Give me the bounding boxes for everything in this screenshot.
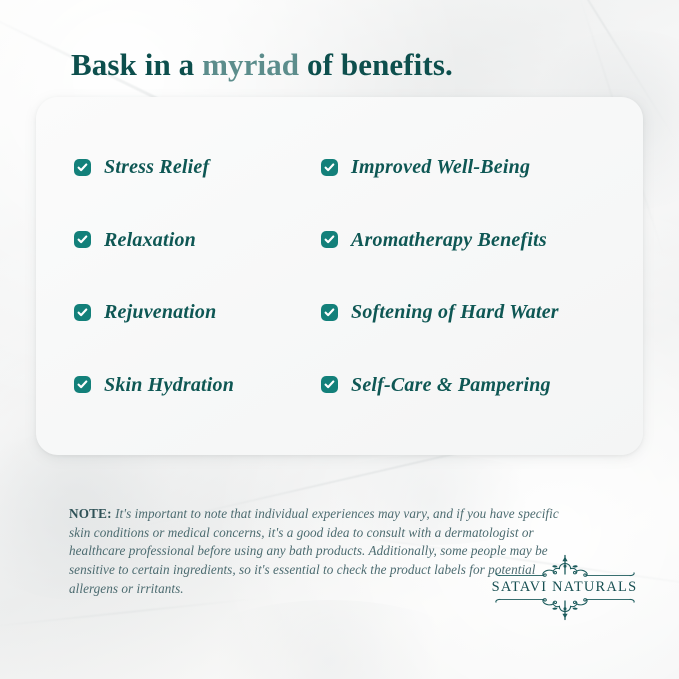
benefit-label: Stress Relief (104, 157, 209, 177)
product-infographic-page: Bask in a myriad of benefits. Stress Rel… (0, 0, 679, 679)
benefit-label: Improved Well-Being (351, 157, 530, 177)
check-circle-icon (74, 159, 91, 176)
benefit-label: Relaxation (104, 230, 196, 250)
check-circle-icon (321, 159, 338, 176)
check-circle-icon (321, 304, 338, 321)
benefit-item-rejuvenation: Rejuvenation (36, 276, 317, 349)
benefit-label: Skin Hydration (104, 375, 234, 395)
marble-smudge (180, 600, 480, 679)
check-circle-icon (321, 376, 338, 393)
marble-vein (0, 596, 269, 629)
brand-logo: SATAVI NATURALS (487, 554, 642, 621)
page-title-part-1: Bask in a (71, 47, 202, 82)
page-title-accent: myriad (202, 47, 299, 82)
benefit-item-skin-hydration: Skin Hydration (36, 349, 317, 422)
check-circle-icon (321, 231, 338, 248)
benefit-label: Rejuvenation (104, 302, 216, 322)
note-body: It's important to note that individual e… (69, 506, 559, 595)
note-label: NOTE: (69, 506, 112, 521)
check-circle-icon (74, 376, 91, 393)
page-title: Bask in a myriad of benefits. (71, 45, 453, 85)
benefit-label: Aromatherapy Benefits (351, 230, 547, 250)
benefit-item-stress-relief: Stress Relief (36, 131, 317, 204)
check-circle-icon (74, 304, 91, 321)
benefit-item-improved-well-being: Improved Well-Being (317, 131, 643, 204)
benefit-item-softening-of-hard-water: Softening of Hard Water (317, 276, 643, 349)
benefits-card: Stress Relief Improved Well-Being Relaxa… (36, 97, 643, 455)
benefit-item-self-care-and-pampering: Self-Care & Pampering (317, 349, 643, 422)
benefit-label: Self-Care & Pampering (351, 375, 551, 395)
page-title-part-2: of benefits. (299, 47, 453, 82)
benefit-item-relaxation: Relaxation (36, 204, 317, 277)
check-circle-icon (74, 231, 91, 248)
brand-name: SATAVI NATURALS (487, 579, 642, 596)
floral-flourish-top (490, 554, 640, 580)
benefit-item-aromatherapy-benefits: Aromatherapy Benefits (317, 204, 643, 277)
floral-flourish-bottom (490, 595, 640, 621)
benefits-grid: Stress Relief Improved Well-Being Relaxa… (36, 97, 643, 455)
benefit-label: Softening of Hard Water (351, 302, 559, 322)
